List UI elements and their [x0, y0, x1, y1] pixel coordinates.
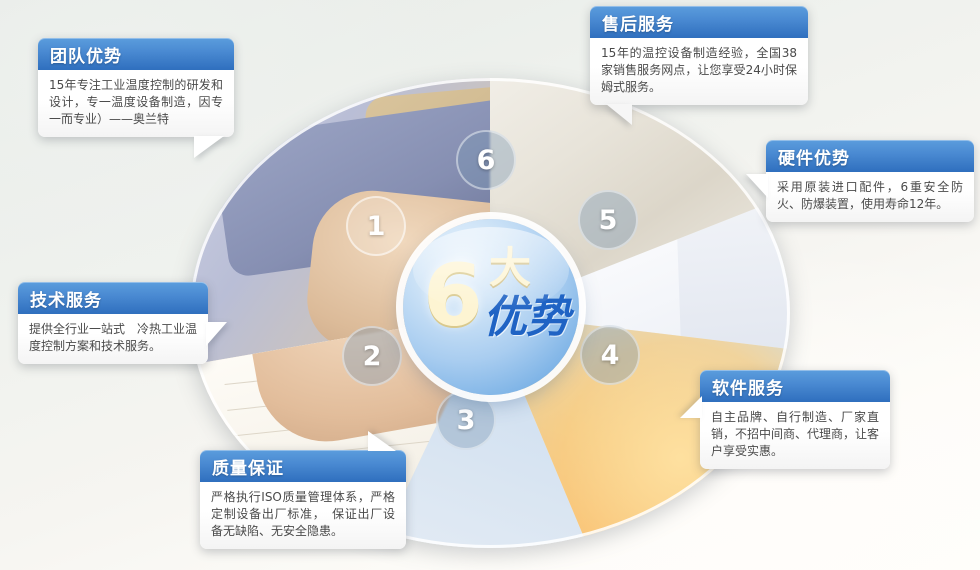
- badge-6[interactable]: 6: [456, 130, 516, 190]
- callout-body: 15年专注工业温度控制的研发和设计，专一温度设备制造，因专一而专业）——奥兰特: [38, 70, 234, 137]
- callout-tail: [194, 136, 224, 158]
- badge-3-label: 3: [457, 405, 476, 436]
- badge-5-label: 5: [599, 205, 618, 236]
- callout-software-service[interactable]: 软件服务 自主品牌、自行制造、厂家直销，不招中间商、代理商，让客户享受实惠。: [700, 370, 890, 469]
- callout-tail: [606, 104, 632, 125]
- badge-2[interactable]: 2: [342, 326, 402, 386]
- callout-body: 15年的温控设备制造经验，全国38家销售服务网点，让您享受24小时保姆式服务。: [590, 38, 808, 105]
- callout-title: 团队优势: [50, 42, 122, 67]
- callout-title: 售后服务: [602, 10, 674, 35]
- callout-technical-service[interactable]: 技术服务 提供全行业一站式 冷热工业温度控制方案和技术服务。: [18, 282, 208, 364]
- badge-4[interactable]: 4: [580, 325, 640, 385]
- badge-1[interactable]: 1: [346, 196, 406, 256]
- callout-header: 技术服务: [18, 282, 208, 314]
- callout-body: 提供全行业一站式 冷热工业温度控制方案和技术服务。: [18, 314, 208, 364]
- callout-body: 采用原装进口配件，6重安全防火、防爆装置，使用寿命12年。: [766, 172, 974, 222]
- callout-quality-assurance[interactable]: 质量保证 严格执行ISO质量管理体系，严格定制设备出厂标准， 保证出厂设备无缺陷…: [200, 450, 406, 549]
- callout-title: 软件服务: [712, 374, 784, 399]
- badge-2-label: 2: [363, 341, 382, 372]
- callout-title: 质量保证: [212, 454, 284, 479]
- callout-title: 技术服务: [30, 286, 102, 311]
- center-big-char: 大: [489, 247, 531, 289]
- infographic-stage: STOCK MARKET DATA INTC 440.96: [0, 0, 980, 570]
- callout-team-advantage[interactable]: 团队优势 15年专注工业温度控制的研发和设计，专一温度设备制造，因专一而专业）—…: [38, 38, 234, 137]
- center-circle: 6 大 优势: [403, 219, 579, 395]
- callout-header: 团队优势: [38, 38, 234, 70]
- callout-tail: [206, 322, 227, 346]
- badge-5[interactable]: 5: [578, 190, 638, 250]
- badge-6-label: 6: [477, 145, 496, 176]
- callout-header: 硬件优势: [766, 140, 974, 172]
- callout-after-sales[interactable]: 售后服务 15年的温控设备制造经验，全国38家销售服务网点，让您享受24小时保姆…: [590, 6, 808, 105]
- badge-1-label: 1: [367, 211, 386, 242]
- callout-body: 自主品牌、自行制造、厂家直销，不招中间商、代理商，让客户享受实惠。: [700, 402, 890, 469]
- callout-hardware-advantage[interactable]: 硬件优势 采用原装进口配件，6重安全防火、防爆装置，使用寿命12年。: [766, 140, 974, 222]
- callout-header: 质量保证: [200, 450, 406, 482]
- badge-4-label: 4: [601, 340, 620, 371]
- callout-body: 严格执行ISO质量管理体系，严格定制设备出厂标准， 保证出厂设备无缺陷、无安全隐…: [200, 482, 406, 549]
- center-number: 6: [423, 253, 483, 339]
- callout-header: 软件服务: [700, 370, 890, 402]
- badge-3[interactable]: 3: [436, 390, 496, 450]
- callout-tail: [746, 174, 768, 198]
- callout-title: 硬件优势: [778, 144, 850, 169]
- callout-header: 售后服务: [590, 6, 808, 38]
- callout-tail: [368, 431, 396, 451]
- callout-tail: [680, 396, 702, 418]
- center-advantage: 优势: [483, 295, 569, 341]
